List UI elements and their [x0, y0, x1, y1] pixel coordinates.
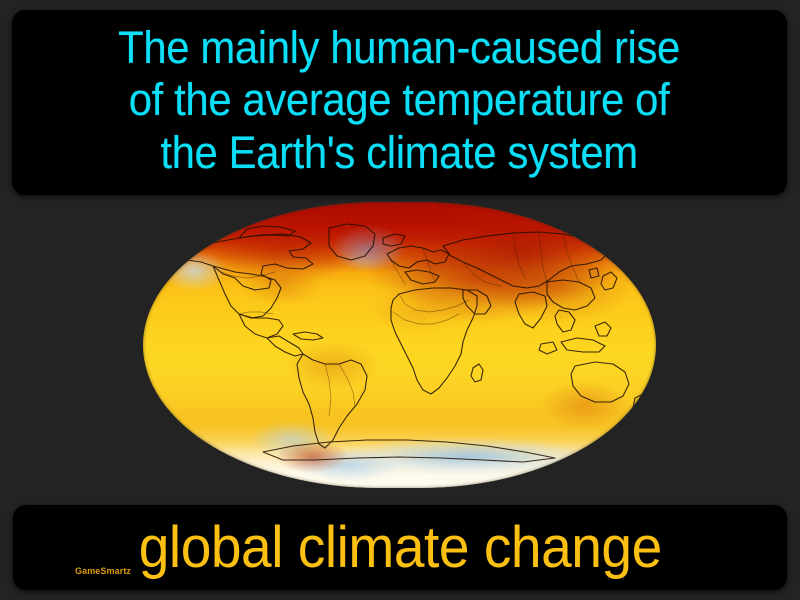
term-panel: global climate change	[13, 505, 787, 590]
watermark: GameSmartz	[75, 566, 131, 576]
global-temperature-anomaly-map	[143, 202, 656, 488]
definition-panel: The mainly human-caused rise of the aver…	[12, 10, 787, 195]
term-text: global climate change	[138, 519, 661, 577]
map-projection-clip	[143, 202, 656, 488]
definition-text: The mainly human-caused rise of the aver…	[119, 22, 681, 179]
definition-card: The mainly human-caused rise of the aver…	[0, 0, 800, 600]
map-coastline-overlay	[143, 202, 656, 488]
